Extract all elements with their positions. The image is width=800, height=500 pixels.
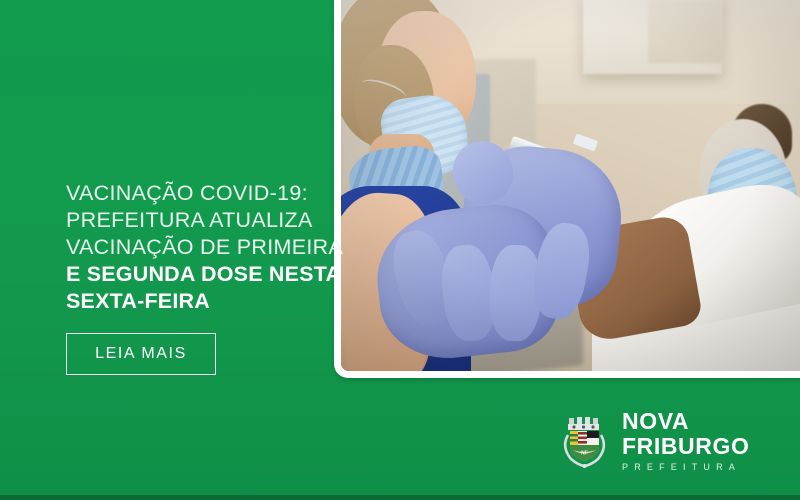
headline-line-2: PREFEITURA ATUALIZA — [66, 207, 356, 234]
headline-line-1: VACINAÇÃO COVID-19: — [66, 180, 356, 207]
bottom-strip — [0, 495, 800, 500]
logo-line-nova: NOVA — [622, 410, 749, 433]
coat-of-arms-icon: NF — [560, 413, 610, 469]
photo-frame — [334, 0, 800, 378]
vaccination-photo — [341, 0, 800, 371]
read-more-button[interactable]: LEIA MAIS — [66, 333, 216, 375]
logo-line-friburgo: FRIBURGO — [622, 435, 749, 458]
photo-vignette — [341, 0, 800, 371]
logo-line-prefeitura: PREFEITURA — [622, 463, 749, 472]
news-banner: VACINAÇÃO COVID-19: PREFEITURA ATUALIZA … — [0, 0, 800, 500]
svg-text:NF: NF — [581, 451, 588, 457]
headline-line-4: E SEGUNDA DOSE NESTA — [66, 261, 356, 288]
logo-wordmark: NOVA FRIBURGO PREFEITURA — [622, 410, 749, 472]
prefeitura-logo[interactable]: NF NOVA FRIBURGO PREFEITURA — [560, 410, 749, 472]
headline: VACINAÇÃO COVID-19: PREFEITURA ATUALIZA … — [66, 180, 356, 315]
headline-line-3: VACINAÇÃO DE PRIMEIRA — [66, 234, 356, 261]
headline-line-5: SEXTA-FEIRA — [66, 288, 356, 315]
